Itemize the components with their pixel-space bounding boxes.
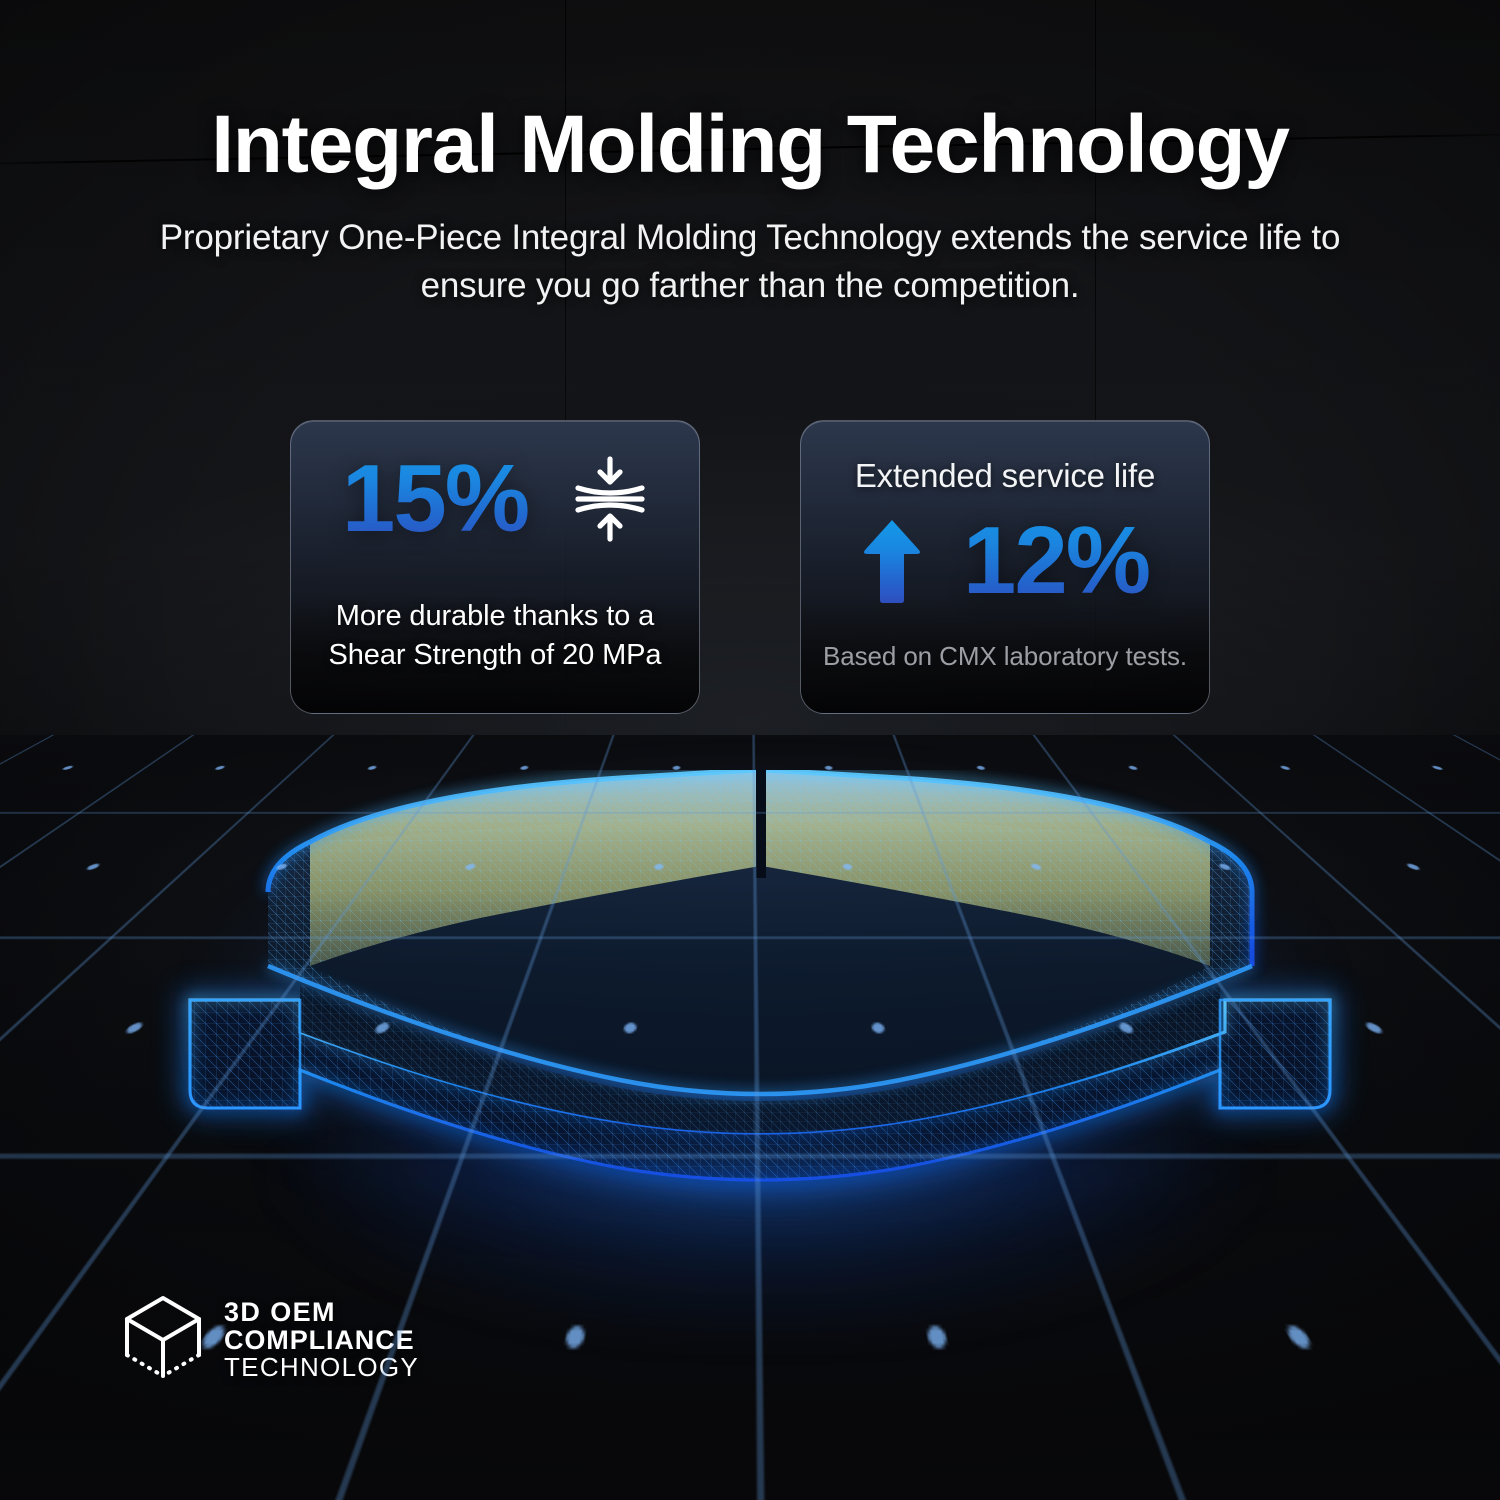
compression-icon: [572, 453, 648, 545]
stat-cards-row: 15% More durable thanks to a: [290, 420, 1210, 714]
page-subtitle: Proprietary One-Piece Integral Molding T…: [120, 214, 1380, 311]
brand-logo: 3D OEM COMPLIANCE TECHNOLOGY: [122, 1292, 419, 1388]
scene-background: Integral Molding Technology Proprietary …: [0, 0, 1500, 1500]
service-life-heading: Extended service life: [801, 421, 1209, 495]
brand-line-3: TECHNOLOGY: [224, 1354, 419, 1381]
stat-card-durability: 15% More durable thanks to a: [290, 420, 700, 714]
brand-line-2: COMPLIANCE: [224, 1327, 419, 1355]
service-life-percent-value: 12%: [963, 513, 1149, 609]
brake-pad-model: [150, 770, 1370, 1240]
up-arrow-icon: [861, 517, 923, 605]
durability-caption: More durable thanks to a Shear Strength …: [291, 597, 699, 674]
header: Integral Molding Technology Proprietary …: [0, 0, 1500, 311]
brand-wordmark: 3D OEM COMPLIANCE TECHNOLOGY: [224, 1299, 419, 1381]
durability-percent-value: 15%: [342, 451, 528, 547]
stat-card-service-life: Extended service life: [800, 420, 1210, 714]
service-life-stat-row: 12%: [801, 513, 1209, 609]
service-life-note: Based on CMX laboratory tests.: [801, 641, 1209, 672]
page-title: Integral Molding Technology: [0, 104, 1500, 186]
3d-cube-wireframe-icon: [122, 1292, 204, 1388]
durability-stat-row: 15%: [291, 421, 699, 547]
brand-line-1: 3D OEM: [224, 1299, 419, 1327]
